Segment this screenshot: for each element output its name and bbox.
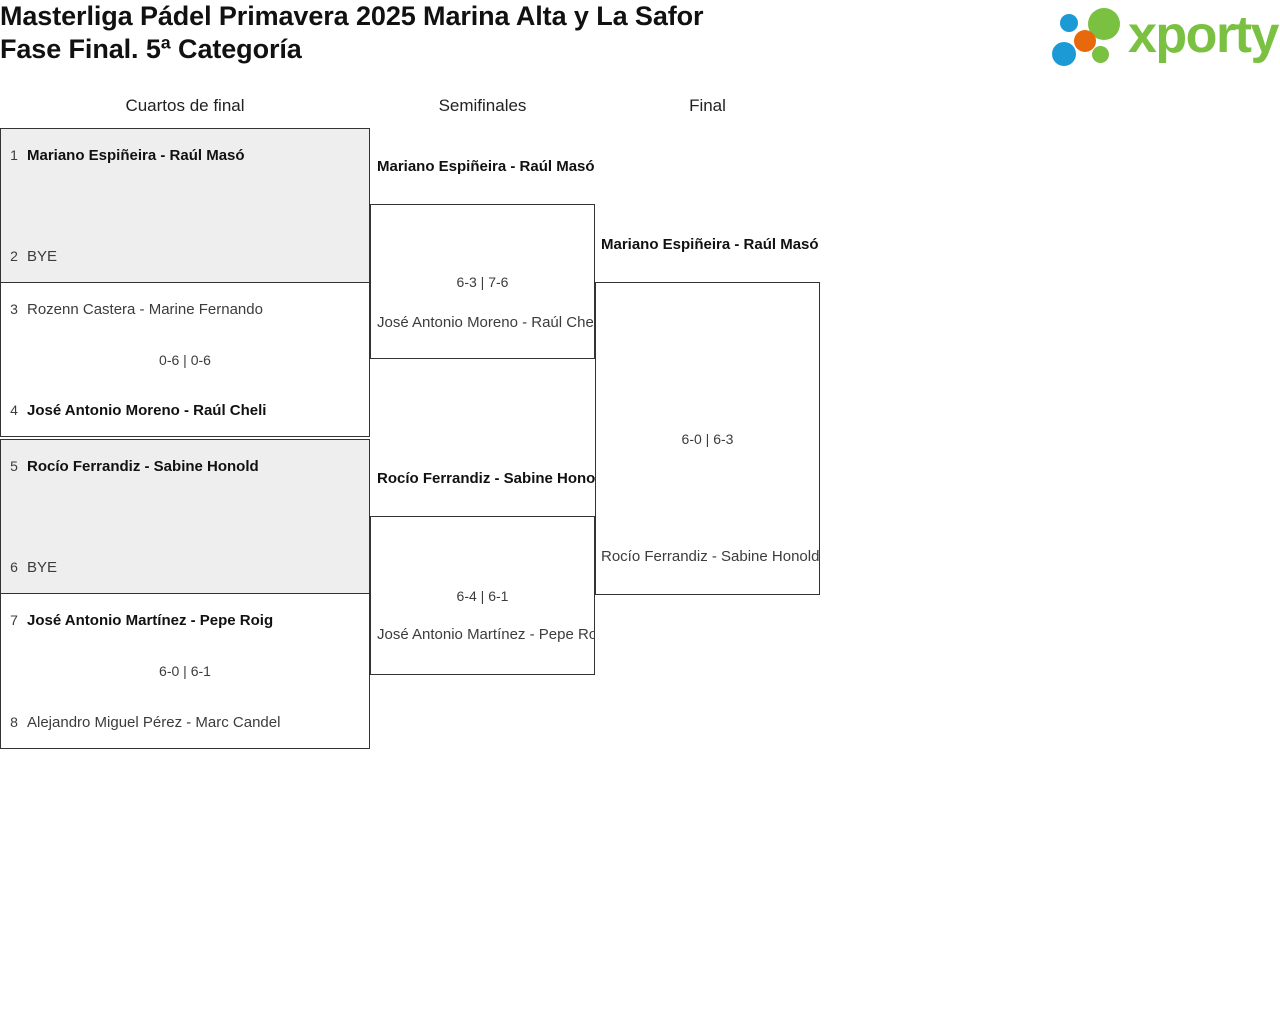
final-team-top: Mariano Espiñeira - Raúl Masó [601,233,820,255]
page-title-line-2: Fase Final. 5ª Categoría [0,33,1000,66]
xporty-logo[interactable]: xporty [1040,2,1280,72]
logo-dots-icon [1048,6,1124,68]
match-score: 6-0 | 6-3 [596,431,819,447]
semifinal-2-team-top: Rocío Ferrandiz - Sabine Honold [377,467,595,489]
final-team-bottom: Rocío Ferrandiz - Sabine Honold [601,545,820,567]
team-name: José Antonio Moreno - Raúl Cheli [27,402,266,419]
round-header-semifinals: Semifinales [370,96,595,116]
quarterfinal-match-1[interactable]: 1 Mariano Espiñeira - Raúl Masó 2 BYE [0,128,370,283]
semifinal-1-team-top: Mariano Espiñeira - Raúl Masó [377,155,595,177]
team-name: Rozenn Castera - Marine Fernando [27,301,263,318]
match-row-top: 7 José Antonio Martínez - Pepe Roig [1,609,369,631]
semifinal-match-1[interactable]: 6-3 | 7-6 [370,204,595,359]
team-name: José Antonio Martínez - Pepe Roig [27,612,273,629]
match-score: 0-6 | 0-6 [1,352,369,368]
match-score: 6-0 | 6-1 [1,663,369,679]
page-title-line-1: Masterliga Pádel Primavera 2025 Marina A… [0,0,1000,33]
semifinal-1-team-bottom: José Antonio Moreno - Raúl Cheli [377,311,595,333]
team-name: BYE [27,248,57,265]
logo-dot-blue-top [1060,14,1078,32]
quarterfinal-match-4[interactable]: 7 José Antonio Martínez - Pepe Roig 6-0 … [0,593,370,749]
logo-dot-blue-bottom [1052,42,1076,66]
seed-number: 4 [1,402,27,418]
seed-number: 7 [1,612,27,628]
quarterfinal-match-2[interactable]: 3 Rozenn Castera - Marine Fernando 0-6 |… [0,282,370,437]
semifinal-match-2[interactable]: 6-4 | 6-1 [370,516,595,675]
match-row-bottom: 6 BYE [1,556,369,578]
team-name: Rocío Ferrandiz - Sabine Honold [27,458,259,475]
round-header-quarterfinals: Cuartos de final [0,96,370,116]
team-name: BYE [27,559,57,576]
semifinal-2-team-bottom: José Antonio Martínez - Pepe Roig [377,623,595,645]
seed-number: 1 [1,147,27,163]
match-score: 6-4 | 6-1 [371,588,594,604]
match-row-bottom: 2 BYE [1,245,369,267]
bracket-page: Masterliga Pádel Primavera 2025 Marina A… [0,0,1280,1015]
round-header-final: Final [595,96,820,116]
page-title: Masterliga Pádel Primavera 2025 Marina A… [0,0,1000,66]
match-score: 6-3 | 7-6 [371,274,594,290]
seed-number: 3 [1,301,27,317]
logo-dot-green-small [1092,46,1109,63]
team-name: Alejandro Miguel Pérez - Marc Candel [27,714,280,731]
logo-wordmark: xporty [1128,4,1278,66]
match-row-top: 3 Rozenn Castera - Marine Fernando [1,298,369,320]
match-row-bottom: 4 José Antonio Moreno - Raúl Cheli [1,399,369,421]
team-name: Mariano Espiñeira - Raúl Masó [27,147,245,164]
tournament-bracket: 1 Mariano Espiñeira - Raúl Masó 2 BYE 3 … [0,128,840,758]
seed-number: 8 [1,714,27,730]
seed-number: 2 [1,248,27,264]
match-row-top: 1 Mariano Espiñeira - Raúl Masó [1,144,369,166]
seed-number: 6 [1,559,27,575]
match-row-top: 5 Rocío Ferrandiz - Sabine Honold [1,455,369,477]
quarterfinal-match-3[interactable]: 5 Rocío Ferrandiz - Sabine Honold 6 BYE [0,439,370,594]
seed-number: 5 [1,458,27,474]
match-row-bottom: 8 Alejandro Miguel Pérez - Marc Candel [1,711,369,733]
